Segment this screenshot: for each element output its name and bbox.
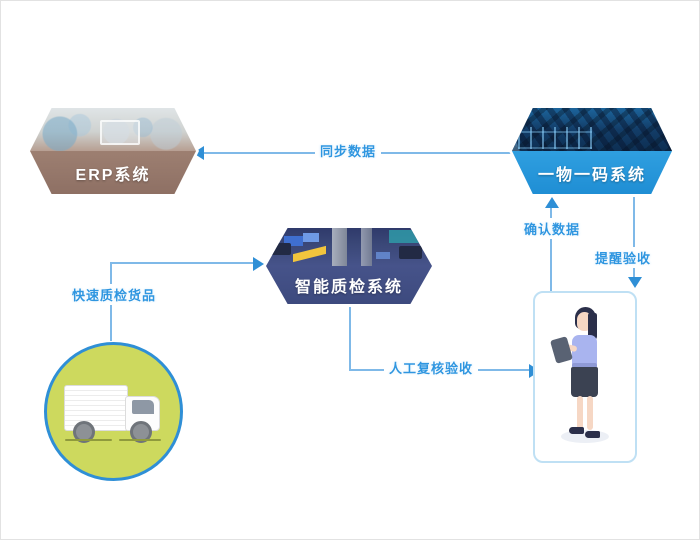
person-shoe-left	[569, 427, 584, 434]
person-leg-left	[577, 396, 583, 430]
edge-review-line-vertical	[349, 307, 351, 371]
node-one-item-one-code-label: 一物一码系统	[538, 161, 646, 185]
node-smart-quality-inspection[interactable]: 智能质检系统	[263, 225, 435, 307]
edge-confirm-line	[550, 203, 552, 295]
node-erp-label: ERP系统	[76, 161, 151, 185]
node-one-item-one-code[interactable]: 一物一码系统	[509, 105, 675, 197]
edge-confirm-arrowhead	[545, 197, 559, 208]
qc-label-band: 智能质检系统	[266, 266, 432, 304]
person-tablet	[550, 336, 573, 364]
person-skirt	[571, 367, 598, 397]
node-erp[interactable]: ERP系统	[27, 105, 199, 197]
edge-label-remind: 提醒验收	[590, 247, 656, 268]
code-photo-image	[512, 108, 672, 151]
edge-inspect-line-horizontal	[110, 262, 256, 264]
erp-label-band: ERP系统	[30, 151, 196, 194]
truck-ground-line-left	[65, 439, 112, 441]
edge-remind-arrowhead	[628, 277, 642, 288]
person-leg-right	[587, 396, 593, 430]
edge-label-inspect: 快速质检货品	[67, 284, 161, 305]
truck-window	[132, 400, 154, 414]
edge-label-confirm: 确认数据	[519, 218, 585, 239]
person-shoe-right	[585, 431, 600, 438]
code-label-band: 一物一码系统	[512, 151, 672, 194]
edge-label-review: 人工复核验收	[384, 357, 478, 378]
edge-inspect-arrowhead	[253, 257, 264, 271]
truck-cargo-box	[64, 385, 128, 431]
truck-ground-line-right	[119, 439, 161, 441]
node-inspector-person[interactable]	[533, 291, 637, 463]
erp-photo-image	[30, 108, 196, 151]
diagram-canvas: 同步数据 快速质检货品 人工复核验收 确认数据 提醒验收 ERP系统 一物一码系…	[0, 0, 700, 540]
node-smart-quality-inspection-label: 智能质检系统	[295, 273, 403, 297]
qc-photo-image	[266, 228, 432, 266]
edge-label-sync: 同步数据	[315, 140, 381, 161]
node-delivery-truck[interactable]	[44, 342, 183, 481]
